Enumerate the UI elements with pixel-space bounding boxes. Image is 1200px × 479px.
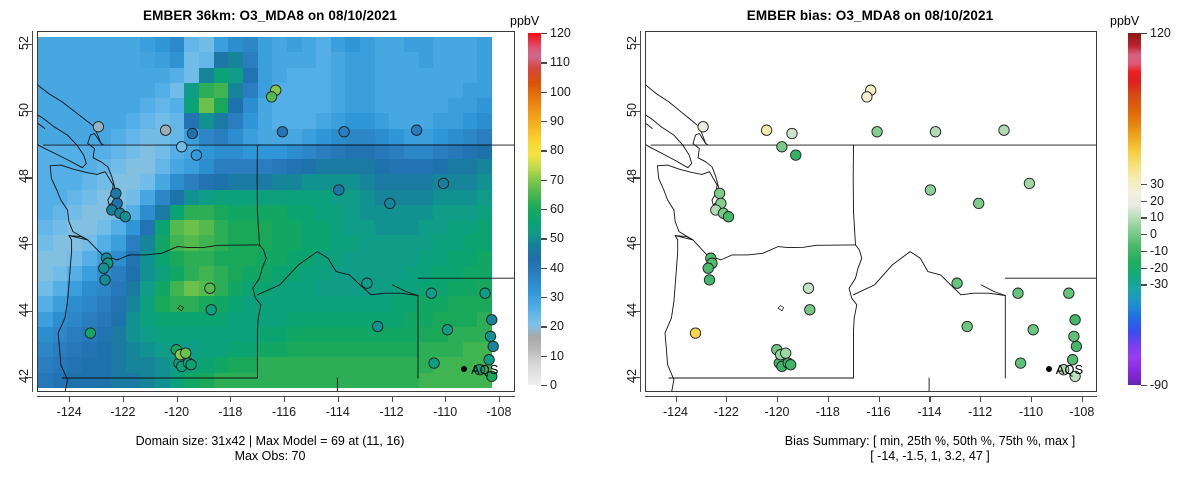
colorbar-tick-label: 120 xyxy=(550,26,571,40)
colorbar-tick xyxy=(541,180,547,181)
bias-observation-points xyxy=(646,32,1096,391)
bias-caption-line2: [ -14, -1.5, 1, 3.2, 47 ] xyxy=(660,449,1200,464)
x-tick-label: -108 xyxy=(469,405,529,419)
colorbar-tick-label: 20 xyxy=(1150,194,1164,208)
colorbar-tick-label: 110 xyxy=(550,55,570,69)
x-tick xyxy=(69,396,70,402)
model-colorbar-units: ppbV xyxy=(510,14,539,28)
aqs-legend-label: AQS xyxy=(1056,362,1083,377)
colorbar-tick xyxy=(541,121,547,122)
y-tick-label: 46 xyxy=(17,223,31,263)
colorbar-tick-label: 10 xyxy=(1150,210,1164,224)
panel-bias-title: EMBER bias: O3_MDA8 on 08/10/2021 xyxy=(600,8,1140,23)
colorbar-tick-label: -30 xyxy=(1150,277,1168,291)
colorbar-tick-label: -10 xyxy=(1150,244,1168,258)
x-tick-label: -110 xyxy=(415,405,475,419)
y-tick-label: 46 xyxy=(625,223,639,263)
x-tick-label: -116 xyxy=(254,405,314,419)
colorbar-tick-label: 10 xyxy=(550,349,564,363)
colorbar-tick-label: 20 xyxy=(550,319,564,333)
colorbar-tick xyxy=(1141,385,1147,386)
x-tick xyxy=(445,396,446,402)
colorbar-tick-label: 100 xyxy=(550,85,571,99)
panel-model: EMBER 36km: O3_MDA8 on 08/10/2021 AQS -1… xyxy=(0,0,600,479)
x-tick xyxy=(392,396,393,402)
y-tick-label: 42 xyxy=(17,356,31,396)
bias-caption: Bias Summary: [ min, 25th %, 50th %, 75t… xyxy=(660,434,1200,464)
colorbar-tick-label: 30 xyxy=(550,290,564,304)
x-tick xyxy=(177,396,178,402)
x-tick-label: -124 xyxy=(39,405,99,419)
x-tick xyxy=(499,396,500,402)
x-axis-line xyxy=(37,396,515,397)
y-tick-label: 52 xyxy=(17,23,31,63)
x-tick xyxy=(230,396,231,402)
x-tick-label: -118 xyxy=(200,405,260,419)
x-tick-label: -108 xyxy=(1052,405,1112,419)
model-caption: Domain size: 31x42 | Max Model = 69 at (… xyxy=(0,434,540,464)
x-tick xyxy=(828,396,829,402)
colorbar-tick xyxy=(541,385,547,386)
bias-colorbar-gradient xyxy=(1128,33,1141,385)
colorbar-tick xyxy=(541,92,547,93)
model-caption-line2: Max Obs: 70 xyxy=(0,449,540,464)
colorbar-tick xyxy=(541,62,547,63)
y-tick-label: 48 xyxy=(17,156,31,196)
y-axis-line xyxy=(640,31,641,392)
colorbar-tick-label: 0 xyxy=(550,378,557,392)
colorbar-tick xyxy=(541,33,547,34)
x-tick xyxy=(1031,396,1032,402)
colorbar-tick-label: 90 xyxy=(550,114,564,128)
colorbar-tick xyxy=(541,297,547,298)
panel-bias: EMBER bias: O3_MDA8 on 08/10/2021 AQS -1… xyxy=(600,0,1200,479)
colorbar-tick xyxy=(1141,251,1147,252)
y-tick-label: 50 xyxy=(17,90,31,130)
y-axis-line xyxy=(32,31,33,392)
y-tick-label: 42 xyxy=(625,356,639,396)
colorbar-tick-label: -20 xyxy=(1150,261,1168,275)
colorbar-tick xyxy=(541,268,547,269)
colorbar-tick-label: 120 xyxy=(1150,26,1171,40)
colorbar-tick xyxy=(1141,33,1147,34)
x-tick xyxy=(676,396,677,402)
x-tick xyxy=(1082,396,1083,402)
colorbar-tick-label: 30 xyxy=(1150,177,1164,191)
x-axis-line xyxy=(645,396,1097,397)
colorbar-tick xyxy=(1141,184,1147,185)
model-colorbar-gradient xyxy=(528,33,541,385)
aqs-dot-icon xyxy=(1046,366,1052,372)
x-tick xyxy=(123,396,124,402)
panel-model-title: EMBER 36km: O3_MDA8 on 08/10/2021 xyxy=(0,8,540,23)
x-tick-label: -112 xyxy=(362,405,422,419)
colorbar-tick xyxy=(1141,217,1147,218)
colorbar-tick xyxy=(1141,284,1147,285)
colorbar-tick-label: 60 xyxy=(550,202,564,216)
x-tick xyxy=(284,396,285,402)
colorbar-tick-label: 50 xyxy=(550,231,564,245)
colorbar-tick xyxy=(541,150,547,151)
y-tick-label: 52 xyxy=(625,23,639,63)
x-tick-label: -120 xyxy=(147,405,207,419)
aqs-legend-bias: AQS xyxy=(1046,362,1083,377)
colorbar-tick-label: 40 xyxy=(550,261,564,275)
bias-caption-line1: Bias Summary: [ min, 25th %, 50th %, 75t… xyxy=(660,434,1200,449)
colorbar-tick-label: 80 xyxy=(550,143,564,157)
aqs-dot-icon xyxy=(461,366,467,372)
colorbar-tick-label: 0 xyxy=(1150,227,1157,241)
colorbar-tick-label: 70 xyxy=(550,173,564,187)
colorbar-tick xyxy=(541,356,547,357)
colorbar-tick xyxy=(541,326,547,327)
y-tick-label: 44 xyxy=(625,290,639,330)
y-tick-label: 48 xyxy=(625,156,639,196)
x-tick xyxy=(980,396,981,402)
colorbar-tick xyxy=(1141,268,1147,269)
x-tick xyxy=(929,396,930,402)
y-tick-label: 44 xyxy=(17,290,31,330)
colorbar-tick xyxy=(541,238,547,239)
figure-root: EMBER 36km: O3_MDA8 on 08/10/2021 AQS -1… xyxy=(0,0,1200,479)
x-tick xyxy=(879,396,880,402)
colorbar-tick xyxy=(1141,201,1147,202)
colorbar-tick xyxy=(1141,234,1147,235)
x-tick-label: -122 xyxy=(93,405,153,419)
x-tick xyxy=(726,396,727,402)
colorbar-tick xyxy=(541,209,547,210)
model-observation-points xyxy=(38,32,514,391)
aqs-legend-label: AQS xyxy=(471,362,498,377)
bias-plot-area: AQS xyxy=(645,31,1097,392)
bias-colorbar-units: ppbV xyxy=(1110,14,1139,28)
model-plot-area: AQS xyxy=(37,31,515,392)
x-tick-label: -114 xyxy=(308,405,368,419)
model-caption-line1: Domain size: 31x42 | Max Model = 69 at (… xyxy=(0,434,540,449)
y-tick-label: 50 xyxy=(625,90,639,130)
x-tick xyxy=(338,396,339,402)
x-tick xyxy=(777,396,778,402)
aqs-legend-model: AQS xyxy=(461,362,498,377)
colorbar-tick-label: -90 xyxy=(1150,378,1168,392)
